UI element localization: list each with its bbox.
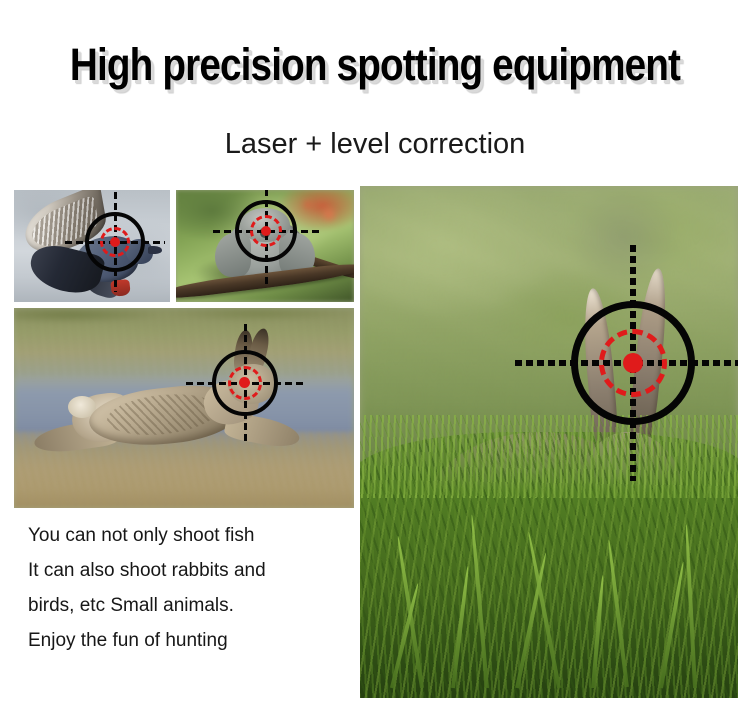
pigeon-beak xyxy=(148,246,162,254)
copy-line: birds, etc Small animals. xyxy=(28,588,348,623)
copy-line: It can also shoot rabbits and xyxy=(28,553,348,588)
photo-bird-branch xyxy=(176,190,354,302)
photo-bird-flight xyxy=(14,190,170,302)
crosshair-reticle-icon xyxy=(571,301,695,425)
copy-line: You can not only shoot fish xyxy=(28,518,348,553)
page-subtitle: Laser + level correction xyxy=(0,126,750,162)
reticle-center-dot xyxy=(261,226,271,236)
copy-line: Enjoy the fun of hunting xyxy=(28,623,348,658)
crosshair-reticle-icon xyxy=(235,200,297,262)
photo-hare xyxy=(14,308,354,508)
marketing-copy: You can not only shoot fish It can also … xyxy=(28,518,348,658)
crosshair-reticle-icon xyxy=(85,212,145,272)
hare-background-reeds xyxy=(14,308,354,376)
reticle-center-dot xyxy=(110,237,120,247)
photo-rabbit-main xyxy=(360,186,738,698)
reticle-center-dot xyxy=(239,377,250,388)
reticle-center-dot xyxy=(623,353,643,373)
crosshair-reticle-icon xyxy=(212,350,278,416)
page-title: High precision spotting equipment xyxy=(53,40,698,90)
